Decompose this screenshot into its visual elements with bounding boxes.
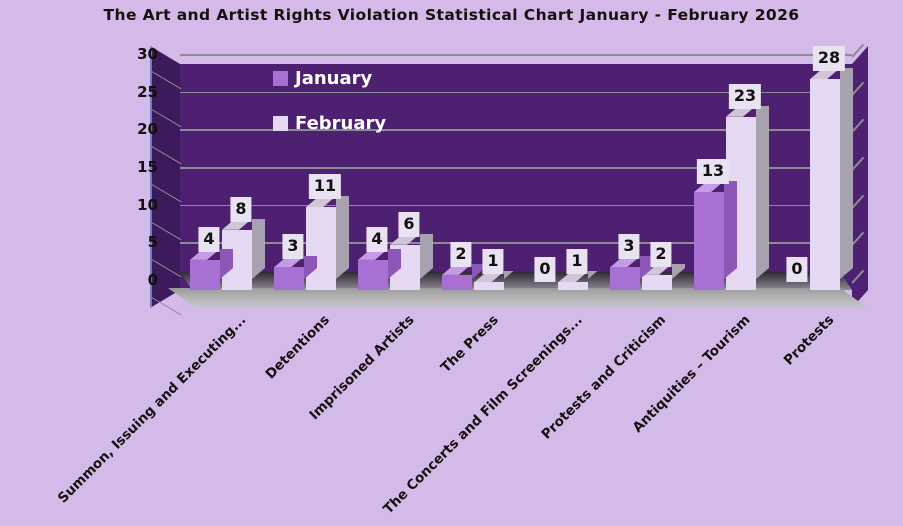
bar-side-face (724, 181, 737, 279)
bar-chart: 051015202530 JanuaryFebruary 48311462101… (0, 0, 903, 526)
bar-value-label: 13 (697, 159, 729, 184)
bar-value-label: 2 (650, 242, 671, 267)
bar-january-7[interactable] (778, 290, 808, 291)
bar-january-1[interactable] (274, 267, 304, 290)
bar-front-face (810, 79, 840, 290)
bar-value-label: 3 (282, 234, 303, 259)
bar-value-label: 4 (198, 227, 219, 252)
legend-swatch-january (273, 71, 288, 86)
bar-value-label: 0 (534, 257, 555, 282)
bar-february-4[interactable] (558, 282, 588, 290)
y-axis-tick-label: 10 (112, 196, 158, 214)
bar-front-face (358, 260, 388, 290)
bar-february-3[interactable] (474, 282, 504, 290)
y-axis-tick-label: 25 (112, 83, 158, 101)
bar-front-face (474, 282, 504, 290)
legend-swatch-february (273, 116, 288, 131)
gridline (180, 54, 852, 56)
y-axis-tick-label: 5 (112, 233, 158, 251)
bar-january-6[interactable] (694, 192, 724, 290)
bar-value-label: 28 (813, 46, 845, 71)
bar-front-face (190, 260, 220, 290)
bar-value-label: 23 (729, 84, 761, 109)
bar-side-face (336, 196, 349, 279)
bar-february-5[interactable] (642, 275, 672, 290)
bar-value-label: 11 (309, 174, 341, 199)
x-axis-label-text: Detentions (263, 312, 333, 382)
bar-value-label: 2 (450, 242, 471, 267)
bar-january-4[interactable] (526, 290, 556, 291)
chart-floor (168, 288, 868, 308)
legend-item-january[interactable]: January (273, 68, 372, 89)
x-axis-label-text: Protests (781, 312, 838, 369)
legend-label: January (295, 68, 372, 89)
y-axis-tick-label: 0 (112, 271, 158, 289)
bar-front-face (694, 192, 724, 290)
x-axis-label-text: The Press (437, 312, 501, 376)
bar-january-0[interactable] (190, 260, 220, 290)
bar-front-face (642, 275, 672, 290)
legend-item-february[interactable]: February (273, 113, 386, 134)
bar-january-2[interactable] (358, 260, 388, 290)
bar-side-face (840, 68, 853, 279)
bar-value-label: 3 (618, 234, 639, 259)
bar-value-label: 4 (366, 227, 387, 252)
bar-value-label: 0 (786, 257, 807, 282)
legend-label: February (295, 113, 386, 134)
bar-value-label: 1 (566, 249, 587, 274)
bar-front-face (558, 282, 588, 290)
bar-january-5[interactable] (610, 267, 640, 290)
y-axis-tick-label: 15 (112, 158, 158, 176)
bar-value-label: 6 (398, 212, 419, 237)
bar-front-face (442, 275, 472, 290)
bar-february-1[interactable] (306, 207, 336, 290)
bar-front-face (610, 267, 640, 290)
bar-value-label: 8 (230, 197, 251, 222)
bar-february-7[interactable] (810, 79, 840, 290)
bar-front-face (306, 207, 336, 290)
y-axis-tick-label: 30 (112, 45, 158, 63)
y-axis-tick-label: 20 (112, 120, 158, 138)
bar-front-face (274, 267, 304, 290)
bar-value-label: 1 (482, 249, 503, 274)
bar-january-3[interactable] (442, 275, 472, 290)
bar-side-face (756, 106, 769, 279)
